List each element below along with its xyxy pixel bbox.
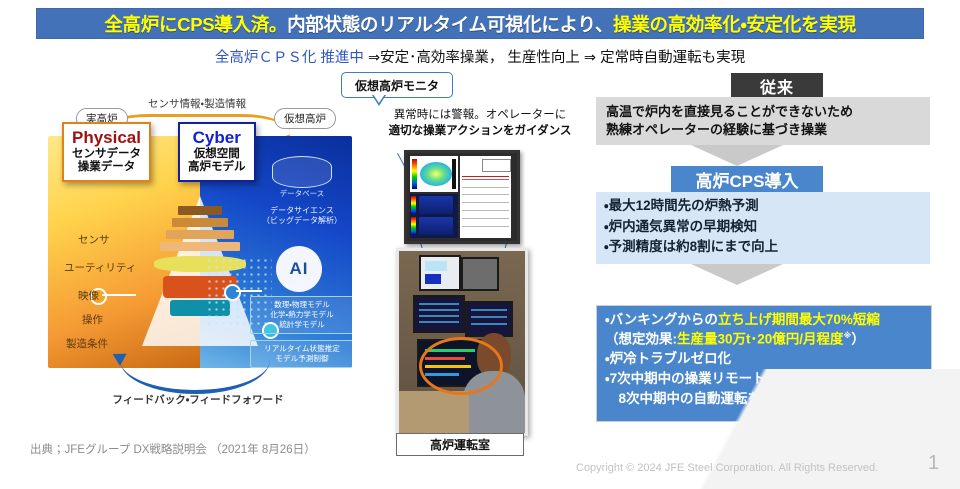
slide-title-bar: 全高炉にCPS導入済。内部状態のリアルタイム可視化により、操業の高効率化・安定化… — [36, 8, 924, 39]
input-label-operation: 操作 — [82, 312, 103, 327]
cps-bullet-3: ・予測精度は約8割にまで向上 — [604, 239, 778, 254]
subtitle: 全高炉ＣＰＳ化 推進中 ⇒安定･高効率操業， 生産性向上 ⇒ 定常時自動運転も実… — [0, 46, 960, 67]
legacy-line-2: 熟練オペレーターの経験に基づき操業 — [606, 122, 827, 137]
physical-heading: Physical — [72, 128, 141, 147]
burden-layer — [166, 230, 234, 239]
physical-line-2: 操業データ — [72, 161, 141, 174]
data-science-line1: データサイエンス — [270, 206, 334, 215]
section-map — [419, 217, 453, 235]
monitor-top-right — [461, 257, 499, 291]
sensor-wire — [102, 294, 136, 296]
cps-bullets: ・最大12時間先の炉熱予測 ・炉内通気異常の早期検知 ・予測精度は約8割にまで向… — [604, 196, 778, 258]
thermal-blob — [420, 162, 452, 186]
title-segment-yellow-2: 操業の高効率化・安定化を実現 — [613, 11, 856, 37]
cyber-wire — [236, 290, 262, 292]
popup-box — [482, 159, 511, 172]
effect-line-2: （想定効果:生産量30万t･20億円/月程度※） — [605, 331, 865, 348]
label-virtual-furnace: 仮想高炉 — [274, 108, 336, 129]
database-label: データベース — [266, 188, 338, 199]
subtitle-blue: 全高炉ＣＰＳ化 推進中 — [215, 50, 364, 66]
effect-line-3: ・炉冷トラブルゼロ化 — [605, 351, 731, 367]
screen-chart — [425, 261, 447, 271]
virtual-furnace-monitor-screenshot[interactable] — [404, 150, 520, 244]
burden-layer — [172, 218, 228, 227]
cps-section-panel: ・最大12時間先の炉熱予測 ・炉内通気異常の早期検知 ・予測精度は約8割にまで向… — [596, 192, 930, 264]
highlight-ellipse — [419, 337, 503, 395]
cyber-heading: Cyber — [188, 128, 246, 147]
effect-line-4: ・7次中期中の操業リモート化、 — [605, 371, 793, 387]
section-view-panel — [410, 194, 458, 238]
cyber-node-icon — [224, 284, 241, 301]
table-row-line — [462, 218, 509, 219]
alarm-note-line1: 異常時には警報。オペレーターに — [394, 109, 567, 121]
database-cylinder-icon — [272, 156, 332, 188]
virtual-furnace-monitor-tag: 仮想高炉モニタ — [341, 72, 453, 98]
effect-line-1-highlight: 立ち上げ期間最大70%短縮 — [718, 312, 880, 327]
trend-chart-panel — [460, 156, 511, 238]
physical-line-1: センサデータ — [72, 148, 141, 161]
input-label-conditions: 製造条件 — [66, 336, 108, 351]
monitor-top-left — [419, 255, 461, 291]
table-row-line — [462, 194, 509, 195]
effect-line-2-post: ） — [851, 332, 865, 347]
effects-panel: ・バンキングからの立ち上げ期間最大70%短縮 （想定効果:生産量30万t･20億… — [596, 305, 932, 422]
ai-badge: AI — [276, 246, 322, 292]
legacy-section-tab: 従来 — [731, 73, 823, 98]
model-box-physics: 数理・物理モデル化学・熱力学モデル統計学モデル — [250, 296, 352, 334]
trend-line — [462, 179, 509, 180]
callout-tail-inner-icon — [373, 94, 385, 103]
control-room-photo — [396, 248, 528, 436]
page-number: 1 — [928, 452, 939, 475]
table-row-line — [462, 187, 509, 188]
monitor-mid-left — [413, 295, 465, 333]
table-row-line — [462, 226, 509, 227]
feedback-label: フィードバック・フィードフォワード — [28, 392, 368, 407]
alarm-note-line2: 適切な操業アクションをガイダンス — [389, 125, 572, 137]
legacy-section-panel: 高温で炉内を直接見ることができないため 熟練オペレーターの経験に基づき操業 — [596, 97, 930, 145]
cps-concept-diagram: センサ情報・製造情報 実高炉 仮想高炉 データベース — [28, 92, 368, 422]
cps-bullet-1: ・最大12時間先の炉熱予測 — [604, 198, 759, 213]
legacy-line-1: 高温で炉内を直接見ることができないため — [606, 104, 853, 119]
down-chevron-icon — [691, 264, 783, 285]
data-science-line2: （ビッグデータ解析） — [262, 216, 342, 225]
cps-section-tab: 高炉CPS導入 — [671, 166, 823, 193]
burden-layer — [178, 206, 222, 215]
table-row-line — [462, 210, 509, 211]
legacy-text: 高温で炉内を直接見ることができないため 熟練オペレーターの経験に基づき操業 — [606, 103, 853, 140]
trend-line — [462, 176, 509, 177]
effect-line-2-pre: （想定効果: — [605, 332, 677, 347]
arc-label: センサ情報・製造情報 — [148, 96, 246, 111]
colorbar-icon — [411, 196, 416, 214]
table-row-line — [462, 202, 509, 203]
data-science-label: データサイエンス （ビッグデータ解析） — [254, 206, 350, 226]
screen-chart — [425, 274, 441, 284]
burden-layer — [160, 242, 240, 251]
thermal-map-panel — [410, 156, 458, 192]
input-label-sensor: センサ — [78, 232, 110, 247]
slide-root: 全高炉にCPS導入済。内部状態のリアルタイム可視化により、操業の高効率化・安定化… — [0, 0, 960, 489]
feedback-arrow-arc — [120, 360, 270, 394]
down-chevron-icon — [691, 145, 783, 166]
effect-line-5: 8次中期中の自動運転を目指す — [605, 391, 802, 407]
effect-line-1-pre: ・バンキングからの — [605, 312, 718, 327]
title-segment-yellow-1: 全高炉にCPS導入済。 — [104, 11, 287, 37]
control-room-caption: 高炉運転室 — [396, 433, 524, 456]
monitor-mid-right — [465, 301, 513, 337]
scale-bar — [452, 159, 456, 189]
cyber-line-2: 高炉モデル — [188, 161, 246, 174]
physical-callout-box: Physical センサデータ 操業データ — [62, 122, 151, 182]
cyber-line-1: 仮想空間 — [188, 148, 246, 161]
subtitle-black: ⇒安定･高効率操業， 生産性向上 ⇒ 定常時自動運転も実現 — [364, 50, 745, 66]
console-desk — [399, 391, 469, 433]
section-map — [419, 196, 453, 214]
colorbar-icon — [412, 159, 417, 189]
cps-bullet-2: ・炉内通気異常の早期検知 — [604, 219, 757, 234]
source-note: 出典；JFEグループ DX戦略説明会 （2021年 8月26日） — [30, 441, 316, 457]
cyber-callout-box: Cyber 仮想空間 高炉モデル — [178, 122, 256, 182]
title-segment-white-1: 内部状態のリアルタイム可視化により、 — [287, 11, 613, 37]
alarm-guidance-note: 異常時には警報。オペレーターに 適切な操業アクションをガイダンス — [380, 108, 580, 139]
input-label-video: 映像 — [78, 288, 99, 303]
colorbar-icon — [411, 217, 416, 235]
effect-line-2-highlight: 生産量30万t･20億円/月程度 — [677, 332, 844, 347]
effect-line-1: ・バンキングからの立ち上げ期間最大70%短縮 — [605, 312, 880, 328]
copyright-note: Copyright © 2024 JFE Steel Corporation. … — [576, 462, 878, 474]
input-label-utility: ユーティリティ — [64, 260, 136, 275]
